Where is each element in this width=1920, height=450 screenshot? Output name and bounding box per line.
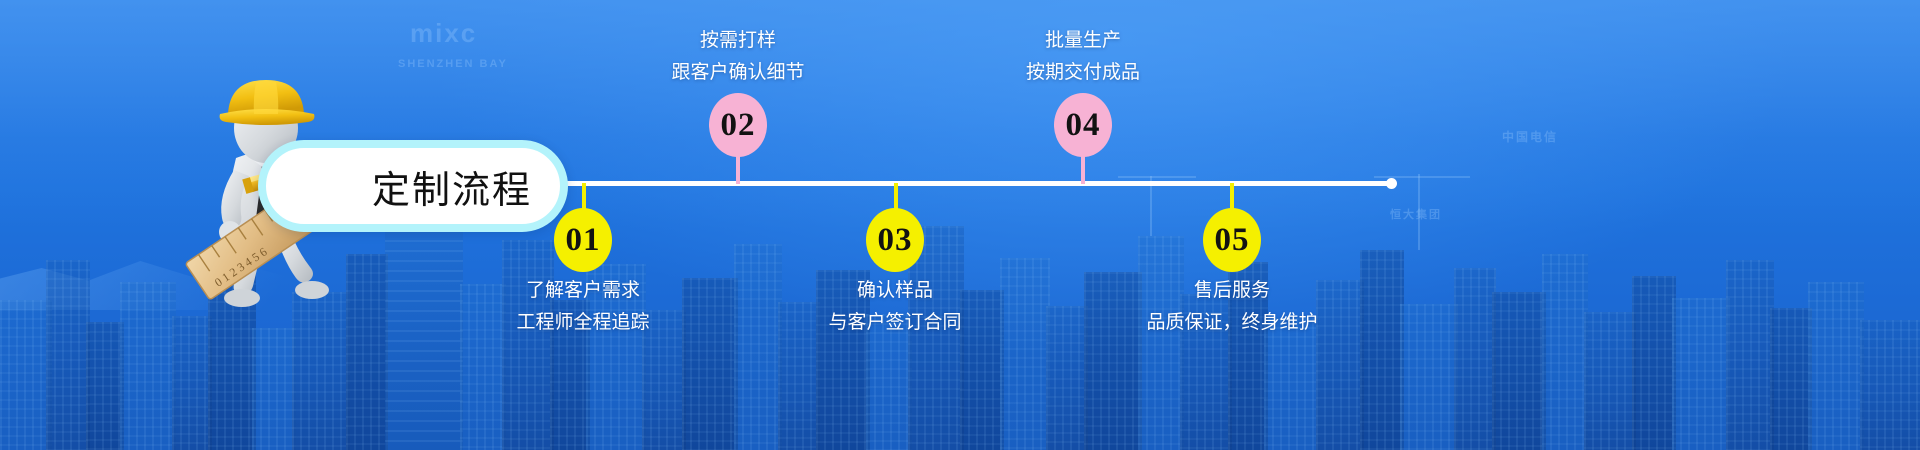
custom-process-banner: mixc SHENZHEN BAY 中国电信 恒大集团 [0, 0, 1920, 450]
step-caption-05: 售后服务 品质保证，终身维护 [1103, 275, 1361, 339]
hengda-group-logo: 恒大集团 [1390, 206, 1442, 222]
step-bubble-01[interactable]: 01 [554, 208, 612, 272]
step-caption-03-line1: 确认样品 [766, 275, 1024, 307]
step-number-03: 03 [878, 222, 913, 259]
step-caption-04: 批量生产 按期交付成品 [954, 25, 1212, 89]
step-number-02: 02 [721, 107, 756, 144]
process-title-label: 定制流程 [372, 159, 560, 214]
step-caption-01-line1: 了解客户需求 [454, 275, 712, 307]
china-telecom-logo: 中国电信 [1502, 128, 1558, 145]
step-caption-02-line1: 按需打样 [609, 25, 867, 57]
step-bubble-03[interactable]: 03 [866, 208, 924, 272]
step-caption-04-line2: 按期交付成品 [954, 57, 1212, 89]
step-caption-02: 按需打样 跟客户确认细节 [609, 25, 867, 89]
shenzhen-bay-logo: SHENZHEN BAY [398, 58, 508, 70]
timeline-end-cap [1386, 178, 1397, 189]
process-title-badge: 定制流程 [258, 140, 568, 232]
step-bubble-05[interactable]: 05 [1203, 208, 1261, 272]
step-caption-05-line2: 品质保证，终身维护 [1103, 307, 1361, 339]
step-caption-03-line2: 与客户签订合同 [766, 307, 1024, 339]
step-caption-05-line1: 售后服务 [1103, 275, 1361, 307]
step-caption-04-line1: 批量生产 [954, 25, 1212, 57]
step-caption-03: 确认样品 与客户签订合同 [766, 275, 1024, 339]
step-caption-01: 了解客户需求 工程师全程追踪 [454, 275, 712, 339]
step-caption-02-line2: 跟客户确认细节 [609, 57, 867, 89]
step-number-05: 05 [1215, 222, 1250, 259]
step-bubble-02[interactable]: 02 [709, 93, 767, 157]
step-number-04: 04 [1066, 107, 1101, 144]
mixc-logo: mixc [410, 18, 477, 49]
step-caption-01-line2: 工程师全程追踪 [454, 307, 712, 339]
step-number-01: 01 [566, 222, 601, 259]
step-bubble-04[interactable]: 04 [1054, 93, 1112, 157]
timeline-axis [470, 181, 1394, 186]
